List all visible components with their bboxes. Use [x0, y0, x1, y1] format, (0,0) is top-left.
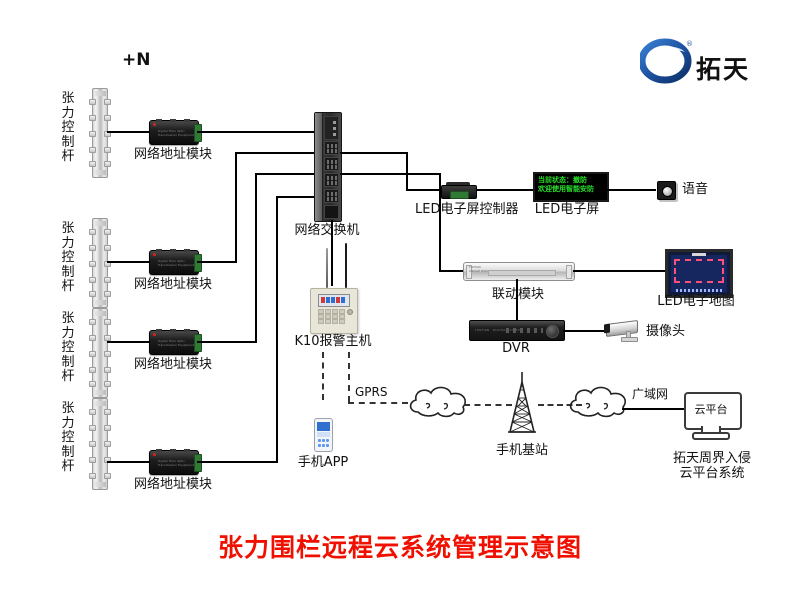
- network-switch-label: 网络交换机: [286, 224, 368, 239]
- network-address-module-4: Digital Fiber OpticTransmission Equipmen…: [149, 450, 199, 475]
- alarm-host-label: K10报警主机: [292, 335, 374, 350]
- link-switch-ledctl-c: [406, 189, 440, 191]
- link-module2-a: [197, 261, 237, 263]
- linkage-module-device: TUOTIANLINKAGE MODULE: [463, 262, 575, 281]
- link-ledscreen-voice: [604, 189, 656, 191]
- gprs-dash-right: [348, 352, 350, 402]
- pole-label-2: 张力控制杆: [60, 222, 76, 295]
- link-pole3-module3: [107, 341, 149, 343]
- link-module3-a: [197, 341, 257, 343]
- network-address-module-label-1: 网络地址模块: [132, 148, 214, 163]
- link-cloudright-platform: [622, 408, 684, 410]
- voice-speaker-device: [657, 181, 676, 200]
- link-module3-c: [255, 173, 314, 175]
- led-screen-line-1: 当前状态：撤防: [538, 176, 604, 185]
- expand-marker: +N: [122, 50, 150, 70]
- link-module3-b: [255, 173, 257, 343]
- tension-pole-3: [92, 308, 108, 398]
- brand-logo: ® 拓天: [640, 38, 780, 86]
- phone-app-device: [314, 418, 333, 452]
- link-module4-a: [197, 461, 278, 463]
- gprs-dash-to-cloud: [348, 402, 408, 404]
- wan-label: 广域网: [632, 388, 668, 402]
- tuotian-swoosh-logo-icon: [640, 38, 692, 84]
- link-switch-ledctl-b: [406, 152, 408, 190]
- cloud-right-icon: [566, 382, 634, 426]
- pole-label-1: 张力控制杆: [60, 92, 76, 165]
- diagram-title: 张力围栏远程云系统管理示意图: [0, 528, 800, 564]
- camera-label: 摄像头: [646, 325, 685, 340]
- antenna-right-icon: [345, 243, 347, 288]
- dvr-device: TUOTIAN DIGITAL VIDEO: [469, 320, 565, 341]
- voice-label: 语音: [682, 183, 708, 198]
- link-module2-c: [235, 152, 314, 154]
- link-module2-b: [235, 152, 237, 263]
- camera-device: [604, 318, 642, 340]
- link-switch-alarmhost: [331, 220, 333, 286]
- gprs-label: GPRS: [355, 386, 388, 400]
- phone-app-label: 手机APP: [288, 456, 358, 471]
- base-station-tower: [495, 372, 549, 442]
- led-screen-device: 当前状态：撤防 欢迎使用智能安防: [533, 172, 609, 202]
- link-ledctl-ledscreen: [476, 189, 533, 191]
- link-switch-ledctl-a: [340, 152, 408, 154]
- brand-name: 拓天: [696, 50, 750, 86]
- dvr-label: DVR: [486, 342, 546, 357]
- network-switch: [314, 112, 342, 222]
- link-module4-b: [276, 196, 278, 462]
- link-pole4-module4: [107, 461, 149, 463]
- pole-label-3: 张力控制杆: [60, 312, 76, 385]
- antenna-left-icon: [326, 248, 328, 288]
- gprs-dash-left: [322, 352, 324, 400]
- link-module4-c: [276, 196, 314, 198]
- network-address-module-label-4: 网络地址模块: [132, 478, 214, 493]
- link-switch-linkage-c: [439, 270, 463, 272]
- network-address-module-label-2: 网络地址模块: [132, 278, 214, 293]
- network-address-module-label-3: 网络地址模块: [132, 358, 214, 373]
- link-linkage-dvr: [516, 279, 518, 322]
- network-address-module-1: Digital Fiber OpticTransmission Equipmen…: [149, 120, 199, 145]
- link-switch-linkage-a: [340, 173, 441, 175]
- cloud-platform-caption: 拓天周界入侵 云平台系统: [656, 452, 768, 482]
- pole-label-4: 张力控制杆: [60, 402, 76, 475]
- cloud-platform-screen-label: 云平台: [684, 401, 738, 417]
- network-address-module-3: Digital Fiber OpticTransmission Equipmen…: [149, 330, 199, 355]
- tension-pole-1: [92, 88, 108, 178]
- cloud-platform-monitor: 云平台: [684, 392, 738, 438]
- led-map-device: [665, 249, 733, 298]
- diagram-canvas: ® 拓天 +N 张力控制杆 Digital Fiber OpticTransmi…: [0, 0, 800, 600]
- link-dvr-camera: [563, 330, 606, 332]
- led-controller-label: LED电子屏控制器: [415, 203, 503, 218]
- tension-pole-4: [92, 398, 108, 490]
- led-controller-device: [441, 182, 475, 197]
- cloud-platform-caption-line-1: 拓天周界入侵: [656, 452, 768, 467]
- cloud-platform-caption-line-2: 云平台系统: [656, 467, 768, 482]
- link-module1-switch: [197, 131, 314, 133]
- network-address-module-2: Digital Fiber OpticTransmission Equipmen…: [149, 250, 199, 275]
- registered-mark: ®: [686, 40, 693, 48]
- link-pole1-module1: [107, 131, 149, 133]
- linkage-module-label: 联动模块: [478, 288, 558, 303]
- led-map-label: LED电子地图: [650, 295, 742, 310]
- base-station-label: 手机基站: [487, 444, 557, 459]
- alarm-host-device: [310, 288, 358, 334]
- tension-pole-2: [92, 218, 108, 308]
- link-pole2-module2: [107, 261, 149, 263]
- link-linkage-ledmap: [573, 270, 665, 272]
- led-screen-line-2: 欢迎使用智能安防: [538, 185, 604, 194]
- led-screen-label: LED电子屏: [524, 203, 610, 218]
